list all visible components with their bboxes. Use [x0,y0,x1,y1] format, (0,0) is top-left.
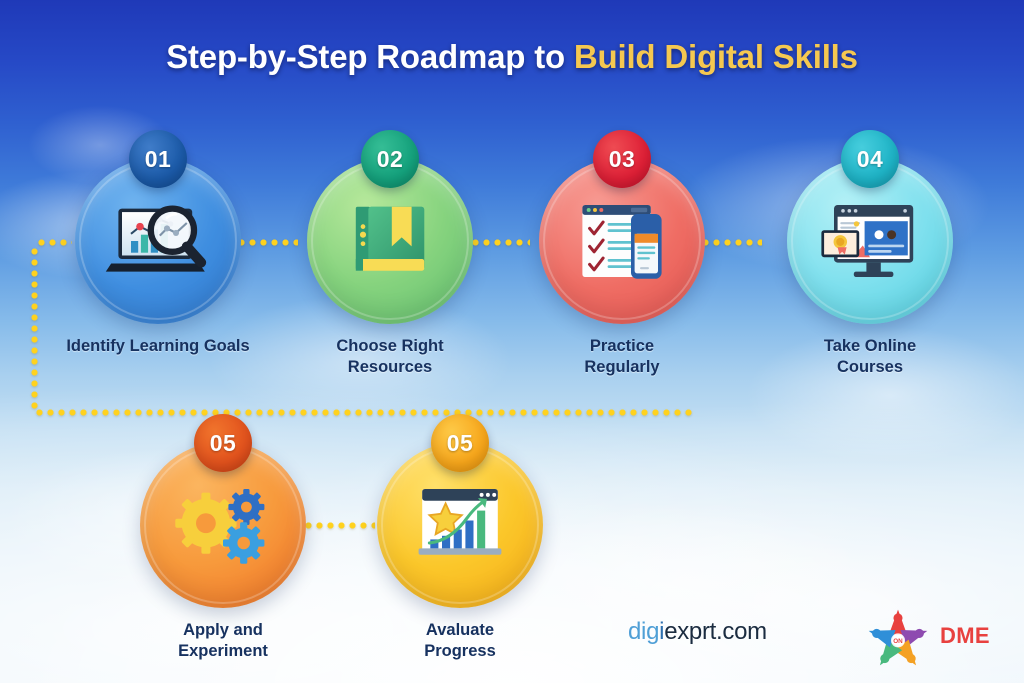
step-node-1[interactable]: 01 [58,158,258,357]
step-number-6: 05 [447,430,474,457]
step-disc-5[interactable]: 05 [140,442,306,608]
connector-left-vertical [31,246,38,410]
step-disc-6[interactable]: 05 [377,442,543,608]
brand-wordmark[interactable]: digiexprt.com [628,618,767,646]
infographic-canvas: Step-by-Step Roadmap to Build Digital Sk… [0,0,1024,683]
step-number-5: 05 [210,430,237,457]
step-label-1-line1: Identify Learning Goals [66,337,249,355]
step-badge-3: 03 [593,130,651,188]
book-bookmark-icon [336,193,444,289]
logo-center-label: ON [893,638,903,645]
step-number-3: 03 [609,146,636,173]
step-disc-2[interactable]: 02 [307,158,473,324]
step-disc-3[interactable]: 03 [539,158,705,324]
step-node-2[interactable]: 02 Choose [290,158,490,378]
step-number-1: 01 [145,146,172,173]
step-label-4-line2: Courses [837,358,903,376]
step-badge-5: 05 [194,414,252,472]
connector-row-rail [34,409,692,416]
growth-chart-star-icon [406,477,514,573]
step-caption-1: Identify Learning Goals [58,336,258,357]
step-label-3-line2: Regularly [584,358,659,376]
page-title-lead: Step-by-Step Roadmap to [166,38,574,75]
step-label-6-line2: Progress [424,642,496,660]
step-badge-6: 05 [431,414,489,472]
page-title-accent: Build Digital Skills [574,38,858,75]
step-caption-3: Practice Regularly [522,336,722,378]
step-label-6-line1: Avaluate [426,621,494,639]
monitor-certificate-icon [816,193,924,289]
step-badge-4: 04 [841,130,899,188]
brand-part-digi: dig [628,618,659,645]
step-label-2-line1: Choose Right [336,337,443,355]
step-disc-4[interactable]: 04 [787,158,953,324]
step-node-3[interactable]: 03 [522,158,722,378]
step-caption-6: Avaluate Progress [360,620,560,662]
step-number-2: 02 [377,146,404,173]
step-label-2-line2: Resources [348,358,432,376]
step-caption-2: Choose Right Resources [290,336,490,378]
step-label-5-line2: Experiment [178,642,268,660]
step-number-4: 04 [857,146,884,173]
brand-part-exprt: exprt.com [664,618,767,645]
step-node-4[interactable]: 04 [770,158,970,378]
dme-label: DME [940,623,990,649]
laptop-analytics-magnifier-icon [104,193,212,289]
gears-icon [169,477,277,573]
step-badge-2: 02 [361,130,419,188]
page-title: Step-by-Step Roadmap to Build Digital Sk… [0,38,1024,76]
step-label-5-line1: Apply and [183,621,263,639]
step-caption-5: Apply and Experiment [123,620,323,662]
step-badge-1: 01 [129,130,187,188]
step-disc-1[interactable]: 01 [75,158,241,324]
dme-star-people-logo: ON [862,604,934,674]
step-caption-4: Take Online Courses [770,336,970,378]
checklist-mobile-icon [568,193,676,289]
step-node-5[interactable]: 05 [123,442,323,662]
step-node-6[interactable]: 05 Avaluate Progress [360,442,560,662]
step-label-3-line1: Practice [590,337,654,355]
step-label-4-line1: Take Online [824,337,916,355]
